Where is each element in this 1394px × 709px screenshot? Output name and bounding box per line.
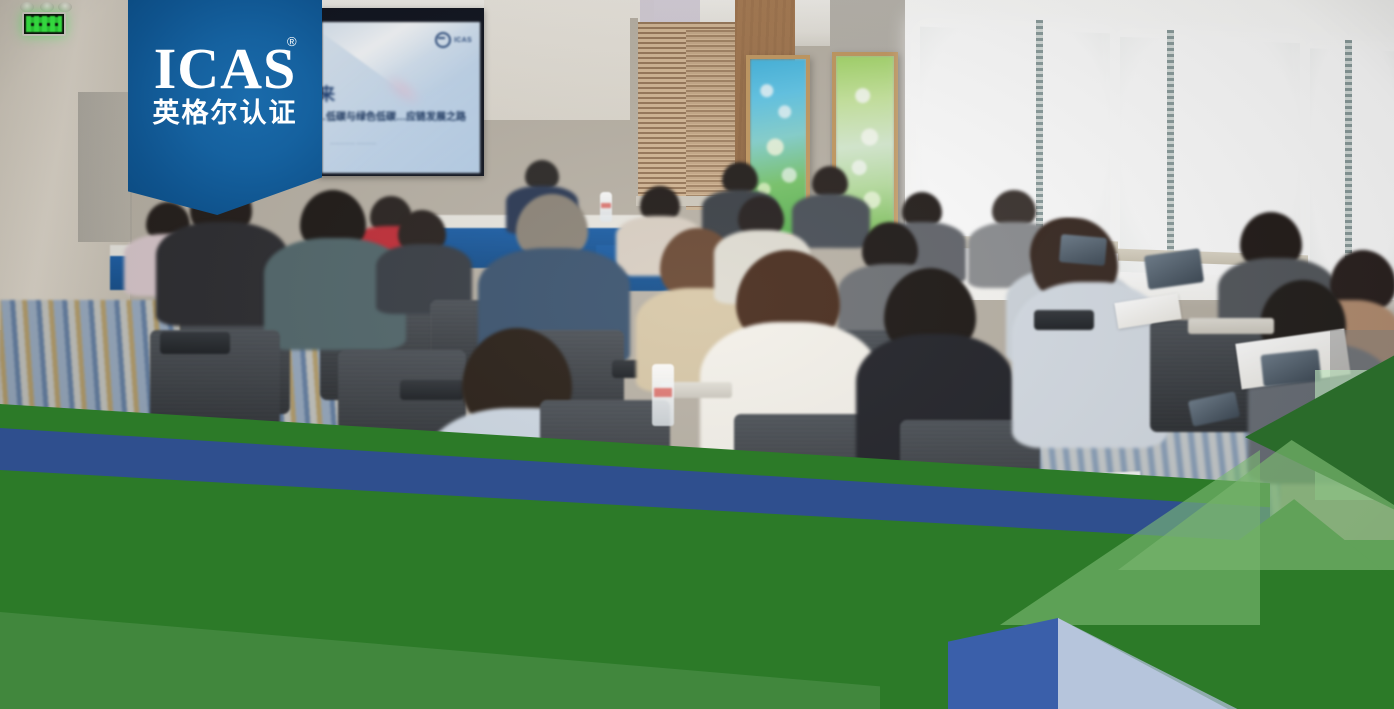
icas-wordmark: ICAS [154, 40, 297, 98]
icas-chinese-name: 英格尔认证 [153, 99, 298, 129]
registered-trademark-icon: ® [287, 34, 297, 49]
icas-logo-panel: ICAS ® 英格尔认证 [128, 0, 322, 215]
event-banner: ICAS 来 …低碳与绿色低碳…应链发展之路 …………… ………… [0, 0, 1394, 709]
brand-overlay: ICAS ® 英格尔认证 [0, 0, 1394, 709]
